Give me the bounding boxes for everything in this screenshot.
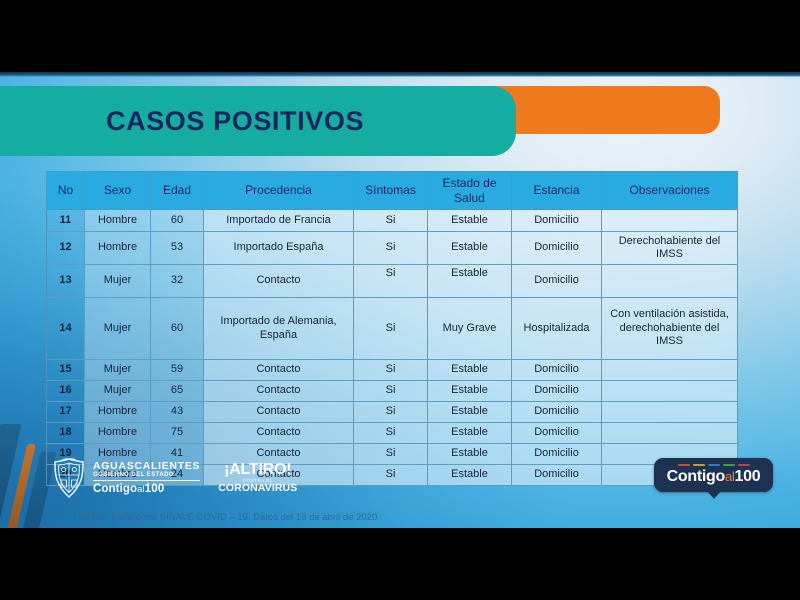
cell-no: 11 <box>47 210 85 232</box>
footer-logo-group: AGUASCALIENTES GOBIERNO DEL ESTADO Conti… <box>52 457 297 499</box>
altiro-middle-text: CONTRA EL <box>218 479 297 484</box>
column-header-sexo: Sexo <box>85 172 151 210</box>
cell-procedencia: Contacto <box>204 423 354 444</box>
badge-label-num: 100 <box>735 468 761 485</box>
cell-sexo: Hombre <box>85 423 151 444</box>
cell-estancia: Domicilio <box>512 444 602 465</box>
cell-sexo: Hombre <box>85 402 151 423</box>
positive-cases-table: No Sexo Edad Procedencia Síntomas Estado… <box>46 171 738 486</box>
page-title: CASOS POSITIVOS <box>106 106 364 137</box>
presentation-slide: CASOS POSITIVOS No Sexo Edad Procedencia… <box>0 72 800 528</box>
cell-edad: 60 <box>151 210 204 232</box>
altiro-headline: ¡ALTIRO! <box>218 462 297 478</box>
column-header-estado-salud: Estado de Salud <box>428 172 512 210</box>
cell-observaciones: Derechohabiente del IMSS <box>602 232 738 265</box>
badge-dash <box>678 464 690 467</box>
column-header-sintomas: Síntomas <box>354 172 428 210</box>
table-row: 17Hombre43ContactoSiEstableDomicilio <box>47 402 738 423</box>
cell-sintomas: Si <box>354 265 428 298</box>
government-logo-text: AGUASCALIENTES GOBIERNO DEL ESTADO Conti… <box>93 461 200 495</box>
cell-sintomas: Si <box>354 360 428 381</box>
cell-sintomas: Si <box>354 465 428 486</box>
contigo-al-100-badge: Contigoal100 <box>654 458 773 492</box>
cell-sintomas: Si <box>354 402 428 423</box>
cell-estancia: Domicilio <box>512 402 602 423</box>
badge-color-dashes <box>678 464 750 467</box>
table-row: 18Hombre75ContactoSiEstableDomicilio <box>47 423 738 444</box>
gov-state-name: AGUASCALIENTES <box>93 461 200 472</box>
decorative-ribbon-blue <box>0 424 22 528</box>
cell-no: 17 <box>47 402 85 423</box>
cell-edad: 59 <box>151 360 204 381</box>
cell-edad: 32 <box>151 265 204 298</box>
column-header-no: No <box>47 172 85 210</box>
column-header-procedencia: Procedencia <box>204 172 354 210</box>
cell-procedencia: Importado España <box>204 232 354 265</box>
table-row: 11Hombre60Importado de FranciaSiEstableD… <box>47 210 738 232</box>
table-row: 12Hombre53Importado EspañaSiEstableDomic… <box>47 232 738 265</box>
cell-observaciones <box>602 210 738 232</box>
column-header-edad: Edad <box>151 172 204 210</box>
cell-procedencia: Contacto <box>204 265 354 298</box>
cell-estancia: Domicilio <box>512 360 602 381</box>
cell-sintomas: Si <box>354 232 428 265</box>
cell-edad: 75 <box>151 423 204 444</box>
cell-sexo: Mujer <box>85 298 151 360</box>
badge-dash <box>723 464 735 467</box>
cell-sintomas: Si <box>354 444 428 465</box>
column-header-estancia: Estancia <box>512 172 602 210</box>
cell-estado: Estable <box>428 402 512 423</box>
cell-observaciones <box>602 265 738 298</box>
cell-sexo: Mujer <box>85 381 151 402</box>
column-header-observaciones: Observaciones <box>602 172 738 210</box>
aguascalientes-government-logo: AGUASCALIENTES GOBIERNO DEL ESTADO Conti… <box>52 458 200 498</box>
altiro-coronavirus-text: CORONAVIRUS <box>218 483 297 494</box>
cell-edad: 60 <box>151 298 204 360</box>
cell-no: 15 <box>47 360 85 381</box>
cell-estado: Estable <box>428 465 512 486</box>
cell-sexo: Hombre <box>85 232 151 265</box>
badge-label-main: Contigo <box>667 468 725 485</box>
table-body: 11Hombre60Importado de FranciaSiEstableD… <box>47 210 738 486</box>
source-footnote: FUENTE. Plataforma SINAVE COVID – 19. Da… <box>68 512 377 523</box>
badge-dash <box>708 464 720 467</box>
cell-estancia: Hospitalizada <box>512 298 602 360</box>
coat-of-arms-icon <box>52 458 86 498</box>
cell-estancia: Domicilio <box>512 465 602 486</box>
cell-sintomas: Si <box>354 210 428 232</box>
cell-observaciones <box>602 402 738 423</box>
gov-tagline-num: 100 <box>145 483 165 495</box>
cell-observaciones <box>602 360 738 381</box>
badge-label: Contigoal100 <box>667 468 761 486</box>
cell-no: 14 <box>47 298 85 360</box>
gov-subtitle: GOBIERNO DEL ESTADO <box>93 472 200 478</box>
cell-estado: Estable <box>428 210 512 232</box>
table-row: 16Mujer65ContactoSiEstableDomicilio <box>47 381 738 402</box>
cell-procedencia: Contacto <box>204 360 354 381</box>
cell-edad: 43 <box>151 402 204 423</box>
cell-estado: Estable <box>428 360 512 381</box>
cell-observaciones <box>602 381 738 402</box>
screenshot-viewport: CASOS POSITIVOS No Sexo Edad Procedencia… <box>0 0 800 600</box>
cell-estancia: Domicilio <box>512 265 602 298</box>
gov-tagline-al: al <box>137 484 145 495</box>
cell-edad: 53 <box>151 232 204 265</box>
cell-estado: Estable <box>428 265 512 298</box>
cell-no: 18 <box>47 423 85 444</box>
cell-estado: Estable <box>428 381 512 402</box>
cell-estancia: Domicilio <box>512 423 602 444</box>
cell-procedencia: Importado de Francia <box>204 210 354 232</box>
cell-sexo: Hombre <box>85 210 151 232</box>
cell-procedencia: Importado de Alemania, España <box>204 298 354 360</box>
table-row: 15Mujer59ContactoSiEstableDomicilio <box>47 360 738 381</box>
cell-no: 13 <box>47 265 85 298</box>
teal-title-banner: CASOS POSITIVOS <box>0 86 516 156</box>
cell-sintomas: Si <box>354 298 428 360</box>
cell-sintomas: Si <box>354 381 428 402</box>
cell-estancia: Domicilio <box>512 381 602 402</box>
cell-estancia: Domicilio <box>512 232 602 265</box>
badge-dash <box>693 464 705 467</box>
table-header-row: No Sexo Edad Procedencia Síntomas Estado… <box>47 172 738 210</box>
cell-estado: Estable <box>428 232 512 265</box>
letterbox-top <box>0 0 800 72</box>
cell-sexo: Mujer <box>85 360 151 381</box>
cell-no: 16 <box>47 381 85 402</box>
table-row: 13Mujer32ContactoSiEstableDomicilio <box>47 265 738 298</box>
cell-procedencia: Contacto <box>204 381 354 402</box>
badge-dash <box>738 464 750 467</box>
cell-estado: Estable <box>428 444 512 465</box>
gov-divider <box>93 480 200 481</box>
badge-label-al: al <box>725 469 735 484</box>
gov-tagline: Contigoal100 <box>93 483 200 495</box>
cell-observaciones <box>602 423 738 444</box>
cell-estado: Estable <box>428 423 512 444</box>
cell-observaciones: Con ventilación asistida, derechohabient… <box>602 298 738 360</box>
cell-procedencia: Contacto <box>204 402 354 423</box>
altiro-coronavirus-logo: ¡ALTIRO! CONTRA EL CORONAVIRUS <box>214 462 297 494</box>
slide-top-rule <box>0 72 800 77</box>
gov-tagline-main: Contigo <box>93 483 137 495</box>
cell-estancia: Domicilio <box>512 210 602 232</box>
cell-estado: Muy Grave <box>428 298 512 360</box>
cell-sintomas: Si <box>354 423 428 444</box>
cell-no: 12 <box>47 232 85 265</box>
table-row: 14Mujer60Importado de Alemania, EspañaSi… <box>47 298 738 360</box>
cell-sexo: Mujer <box>85 265 151 298</box>
decorative-ribbon-orange <box>5 444 36 528</box>
letterbox-bottom <box>0 528 800 600</box>
cell-edad: 65 <box>151 381 204 402</box>
